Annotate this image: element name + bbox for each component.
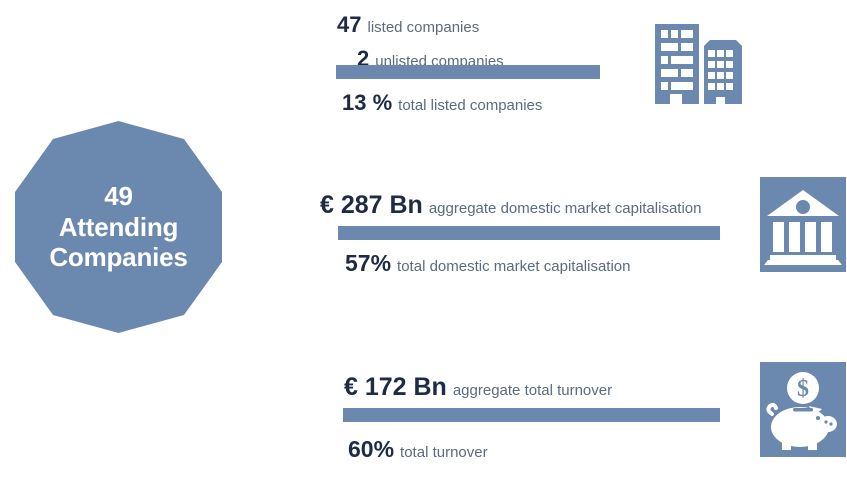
row2-progress-bar xyxy=(338,226,720,240)
row2-percent-line: 57%total domestic market capitalisation xyxy=(345,252,630,275)
row2-percent-value: 57% xyxy=(345,250,391,276)
svg-text:$: $ xyxy=(797,376,809,402)
row2-primary-label: aggregate domestic market capitalisation xyxy=(429,200,702,217)
row2-primary-line: € 287 Bnaggregate domestic market capita… xyxy=(320,193,702,218)
infographic-canvas: 49 Attending Companies 47listed companie… xyxy=(0,0,847,480)
row3-primary-value: € 172 Bn xyxy=(344,373,447,401)
row2-primary-value: € 287 Bn xyxy=(320,191,423,219)
row3-percent-label: total turnover xyxy=(400,444,488,461)
piggy-bank-icon: $ xyxy=(760,362,846,457)
row3-primary-line: € 172 Bnaggregate total turnover xyxy=(344,375,612,400)
row3-primary-label: aggregate total turnover xyxy=(453,382,612,399)
row3-percent-value: 60% xyxy=(348,436,394,462)
row3-percent-line: 60%total turnover xyxy=(348,438,488,461)
row3-progress-bar xyxy=(343,408,720,422)
bank-icon xyxy=(760,177,846,272)
row2-percent-label: total domestic market capitalisation xyxy=(397,258,630,275)
